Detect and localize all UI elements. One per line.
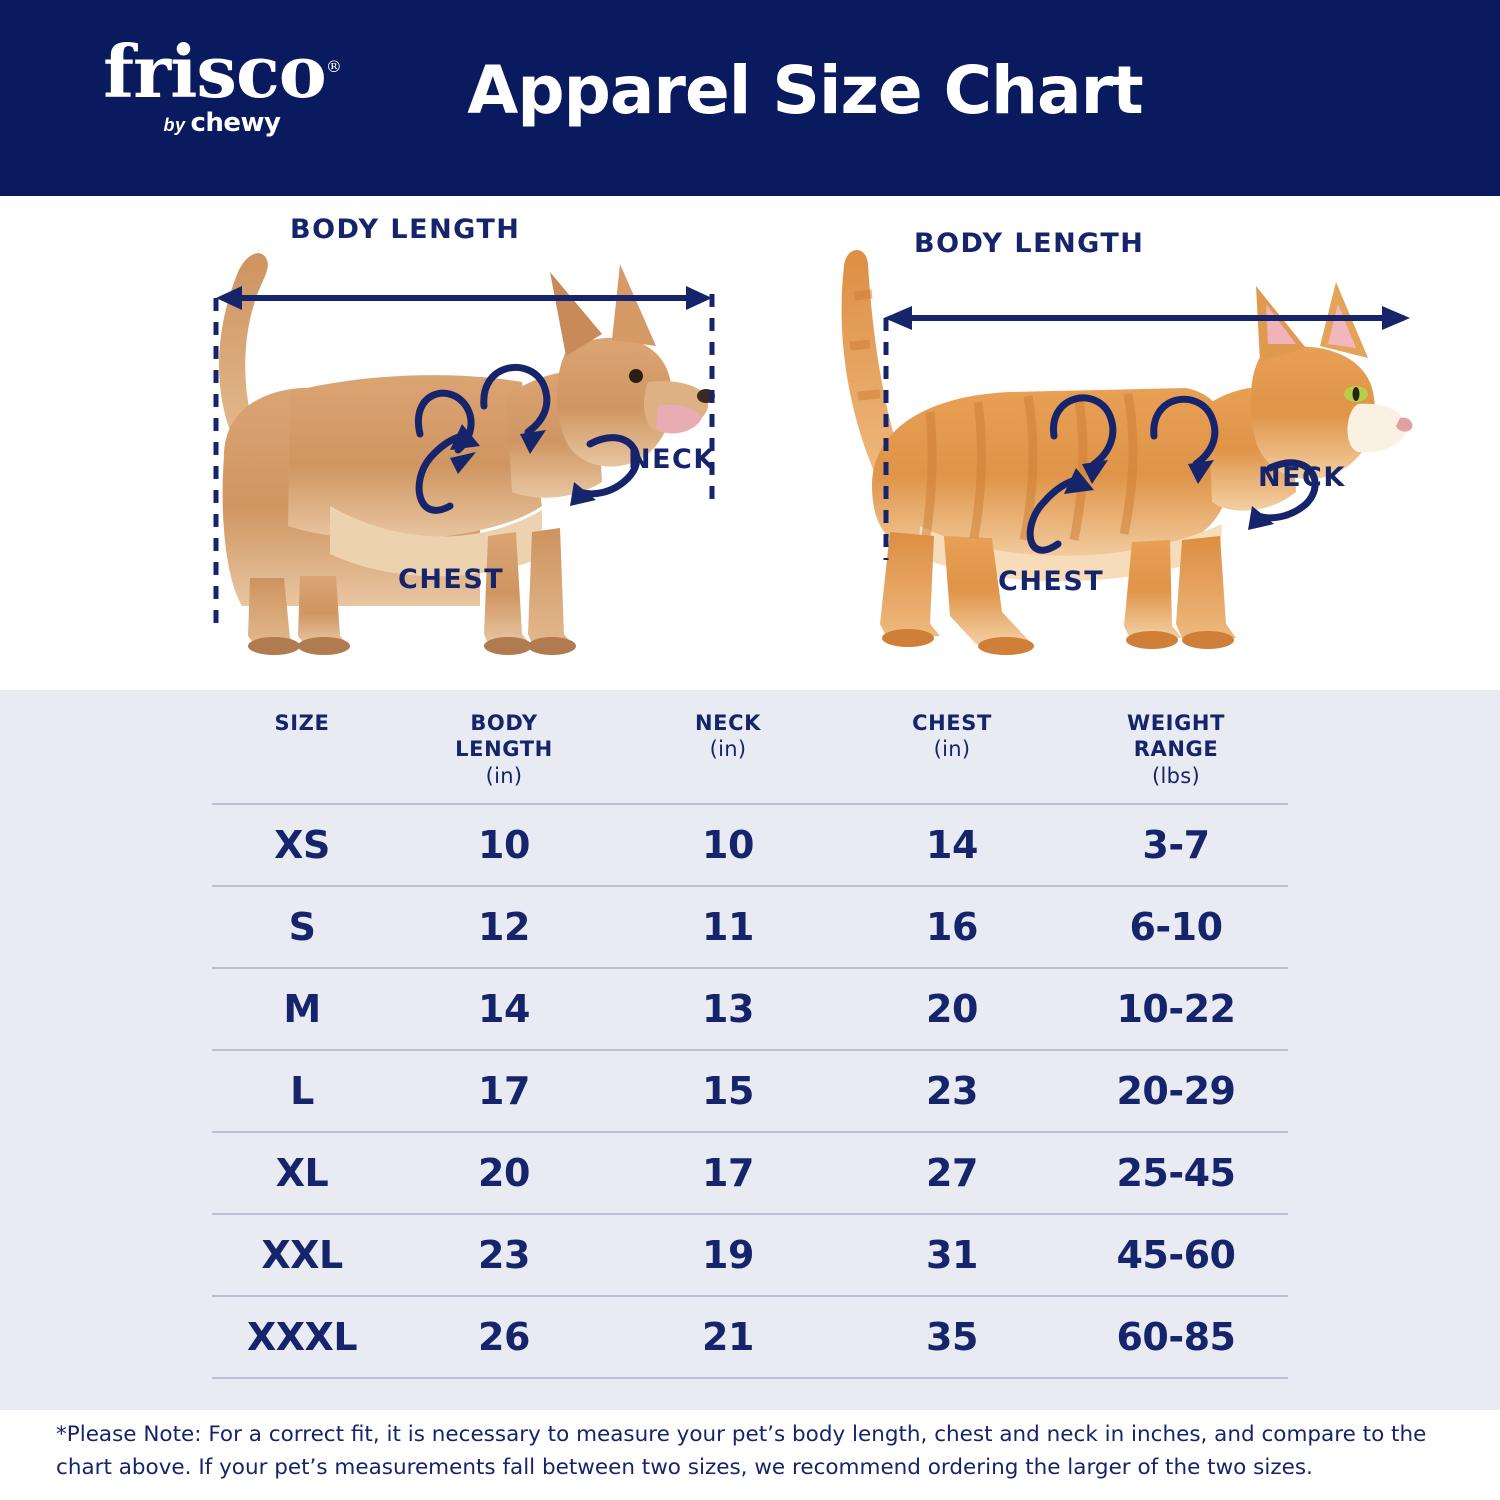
page-title: Apparel Size Chart bbox=[0, 52, 1500, 129]
cat-body-length-arrowhead-right bbox=[1382, 306, 1410, 330]
column-header-weight-unit: (lbs) bbox=[1064, 763, 1288, 789]
table-cell-neck: 13 bbox=[616, 968, 840, 1050]
column-header-body-length: BODY LENGTH (in) bbox=[392, 704, 616, 804]
table-row: XXXL26213560-85 bbox=[212, 1296, 1288, 1378]
table-cell-neck: 11 bbox=[616, 886, 840, 968]
table-cell-weight: 10-22 bbox=[1064, 968, 1288, 1050]
dog-body-length-arrowhead-right bbox=[686, 286, 712, 310]
size-chart-page: frisco® bychewy Apparel Size Chart bbox=[0, 0, 1500, 1500]
dog-eye bbox=[629, 369, 643, 383]
table-cell-body-length: 23 bbox=[392, 1214, 616, 1296]
column-header-chest-label: CHEST bbox=[912, 711, 992, 735]
cat-diagram: BODY LENGTH NECK CHEST bbox=[810, 236, 1430, 686]
table-row: XXL23193145-60 bbox=[212, 1214, 1288, 1296]
table-cell-size: XXXL bbox=[212, 1296, 392, 1378]
table-row: L17152320-29 bbox=[212, 1050, 1288, 1132]
table-cell-body-length: 14 bbox=[392, 968, 616, 1050]
table-cell-weight: 25-45 bbox=[1064, 1132, 1288, 1214]
size-table-section: SIZE BODY LENGTH (in) NECK (in) CHEST (i… bbox=[0, 690, 1500, 1410]
table-cell-weight: 3-7 bbox=[1064, 804, 1288, 886]
column-header-body-length-unit: (in) bbox=[392, 763, 616, 789]
table-cell-weight: 60-85 bbox=[1064, 1296, 1288, 1378]
table-cell-neck: 15 bbox=[616, 1050, 840, 1132]
dog-body-length-label: BODY LENGTH bbox=[290, 214, 520, 245]
column-header-weight-range: WEIGHT RANGE (lbs) bbox=[1064, 704, 1288, 804]
dog-paw-4 bbox=[528, 637, 576, 655]
table-header-row: SIZE BODY LENGTH (in) NECK (in) CHEST (i… bbox=[212, 704, 1288, 804]
page-header: frisco® bychewy Apparel Size Chart bbox=[0, 0, 1500, 196]
cat-hind-leg-back bbox=[880, 532, 940, 636]
column-header-body-length-line2: LENGTH bbox=[455, 737, 553, 761]
table-cell-body-length: 20 bbox=[392, 1132, 616, 1214]
table-cell-neck: 10 bbox=[616, 804, 840, 886]
table-cell-chest: 31 bbox=[840, 1214, 1064, 1296]
dog-paw-1 bbox=[248, 637, 300, 655]
cat-ear-inner-back bbox=[1266, 304, 1296, 344]
table-cell-weight: 20-29 bbox=[1064, 1050, 1288, 1132]
column-header-neck: NECK (in) bbox=[616, 704, 840, 804]
dog-paw-2 bbox=[298, 637, 350, 655]
table-cell-chest: 16 bbox=[840, 886, 1064, 968]
cat-body-length-label: BODY LENGTH bbox=[914, 228, 1144, 259]
column-header-neck-label: NECK bbox=[695, 711, 761, 735]
column-header-weight-line2: RANGE bbox=[1134, 737, 1219, 761]
cat-front-leg-front bbox=[1176, 536, 1236, 638]
table-cell-weight: 45-60 bbox=[1064, 1214, 1288, 1296]
measurement-illustrations: BODY LENGTH NECK CHEST bbox=[0, 196, 1500, 690]
cat-pupil bbox=[1353, 387, 1360, 401]
table-cell-size: M bbox=[212, 968, 392, 1050]
table-row: S1211166-10 bbox=[212, 886, 1288, 968]
table-cell-chest: 14 bbox=[840, 804, 1064, 886]
table-cell-size: L bbox=[212, 1050, 392, 1132]
dog-ear-front bbox=[612, 264, 656, 346]
footnote-text: *Please Note: For a correct fit, it is n… bbox=[0, 1418, 1500, 1485]
cat-paw-3 bbox=[1126, 631, 1178, 649]
table-cell-chest: 23 bbox=[840, 1050, 1064, 1132]
table-row: XL20172725-45 bbox=[212, 1132, 1288, 1214]
table-cell-chest: 27 bbox=[840, 1132, 1064, 1214]
size-table-head: SIZE BODY LENGTH (in) NECK (in) CHEST (i… bbox=[212, 704, 1288, 804]
table-row: M14132010-22 bbox=[212, 968, 1288, 1050]
dog-diagram: BODY LENGTH NECK CHEST bbox=[150, 206, 770, 686]
table-cell-chest: 35 bbox=[840, 1296, 1064, 1378]
size-table: SIZE BODY LENGTH (in) NECK (in) CHEST (i… bbox=[212, 704, 1288, 1379]
column-header-chest: CHEST (in) bbox=[840, 704, 1064, 804]
dog-paw-3 bbox=[484, 637, 532, 655]
dog-neck-label: NECK bbox=[628, 444, 716, 475]
dog-front-leg-front bbox=[528, 528, 572, 644]
table-cell-body-length: 26 bbox=[392, 1296, 616, 1378]
table-cell-neck: 21 bbox=[616, 1296, 840, 1378]
column-header-size: SIZE bbox=[212, 704, 392, 804]
column-header-body-length-line1: BODY bbox=[470, 711, 537, 735]
table-cell-chest: 20 bbox=[840, 968, 1064, 1050]
table-cell-size: XXL bbox=[212, 1214, 392, 1296]
column-header-weight-line1: WEIGHT bbox=[1127, 711, 1225, 735]
cat-chest-label: CHEST bbox=[998, 566, 1104, 597]
cat-illustration-svg bbox=[810, 236, 1430, 686]
table-cell-weight: 6-10 bbox=[1064, 886, 1288, 968]
size-table-body: XS1010143-7S1211166-10M14132010-22L17152… bbox=[212, 804, 1288, 1378]
table-cell-size: S bbox=[212, 886, 392, 968]
column-header-chest-unit: (in) bbox=[840, 736, 1064, 762]
table-cell-neck: 17 bbox=[616, 1132, 840, 1214]
dog-chest-label: CHEST bbox=[398, 564, 504, 595]
table-cell-size: XL bbox=[212, 1132, 392, 1214]
column-header-size-label: SIZE bbox=[275, 711, 330, 735]
table-cell-neck: 19 bbox=[616, 1214, 840, 1296]
dog-torso bbox=[288, 375, 542, 540]
cat-neck-label: NECK bbox=[1258, 462, 1346, 493]
table-row: XS1010143-7 bbox=[212, 804, 1288, 886]
cat-paw-2 bbox=[978, 637, 1034, 655]
column-header-neck-unit: (in) bbox=[616, 736, 840, 762]
table-cell-body-length: 12 bbox=[392, 886, 616, 968]
table-cell-body-length: 10 bbox=[392, 804, 616, 886]
table-cell-size: XS bbox=[212, 804, 392, 886]
cat-paw-4 bbox=[1182, 631, 1234, 649]
table-cell-body-length: 17 bbox=[392, 1050, 616, 1132]
cat-paw-1 bbox=[882, 629, 934, 647]
